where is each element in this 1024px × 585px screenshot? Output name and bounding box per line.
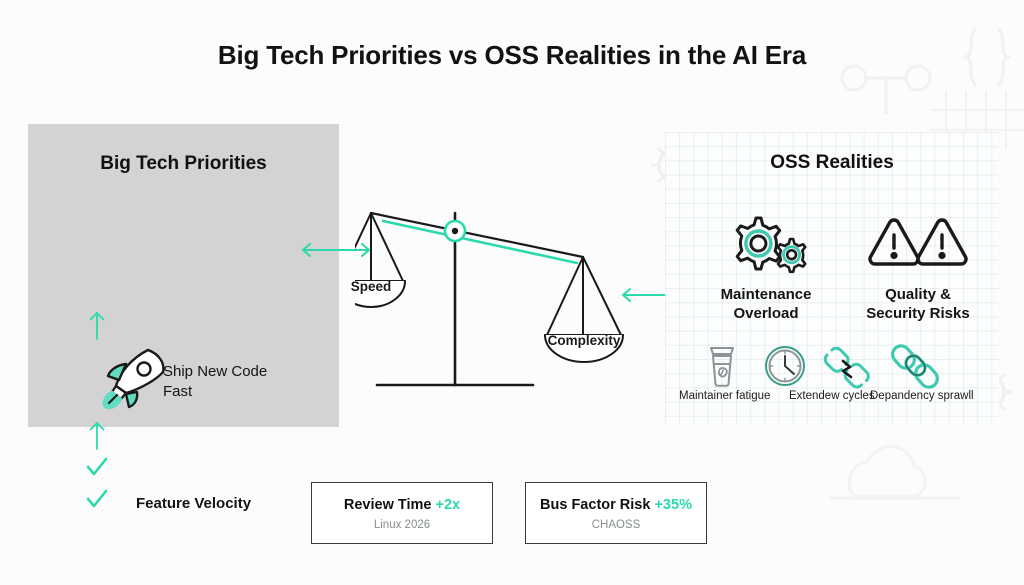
ship-new-code-label: Ship New Code Fast	[163, 362, 303, 402]
bus-factor-value: +35%	[654, 497, 692, 513]
bus-factor-title: Bus Factor Risk +35%	[526, 497, 706, 513]
up-arrow-icon	[88, 310, 106, 340]
cloud-watermark	[820, 430, 970, 510]
big-tech-priorities-panel: Big Tech Priorities	[28, 124, 339, 427]
oss-realities-panel: OSS Realities Mainte	[665, 132, 999, 424]
review-time-card[interactable]: Review Time +2x Linux 2026	[311, 482, 493, 544]
clock-icon	[763, 344, 807, 393]
mini-caption-dependency-sprawl: Depandency sprawll	[870, 390, 974, 402]
scale-right-pan-label: Complexity	[544, 333, 624, 348]
quality-security-risks-item: Quality & Security Risks	[848, 212, 988, 323]
broken-chain-icon	[823, 342, 871, 395]
maintenance-line1: Maintenance	[721, 286, 812, 303]
slide-canvas: Big Tech Priorities vs OSS Realities in …	[0, 0, 1024, 585]
maintenance-overload-label: Maintenance Overload	[691, 285, 841, 323]
quality-security-label: Quality & Security Risks	[848, 285, 988, 323]
warning-triangles-icon	[848, 212, 988, 279]
bus-factor-label: Bus Factor Risk	[540, 497, 650, 513]
up-arrow-icon	[88, 420, 106, 450]
node-graph-watermark	[840, 18, 980, 128]
balance-scale: Speed Complexity	[355, 195, 655, 395]
quality-line1: Quality &	[885, 286, 951, 303]
coffee-cup-icon	[703, 344, 741, 393]
feature-velocity-label: Feature Velocity	[136, 495, 251, 512]
chain-links-icon	[890, 340, 940, 395]
mini-caption-maintainer-fatigue: Maintainer fatigue	[679, 390, 770, 402]
bus-factor-source: CHAOSS	[526, 519, 706, 531]
scale-left-pan-label: Speed	[337, 279, 405, 294]
bus-factor-card[interactable]: Bus Factor Risk +35% CHAOSS	[525, 482, 707, 544]
ship-label-line2: Fast	[163, 383, 192, 400]
review-time-source: Linux 2026	[312, 519, 492, 531]
review-time-value: +2x	[436, 497, 461, 513]
maintenance-line2: Overload	[733, 305, 798, 322]
gears-icon	[691, 212, 841, 279]
mini-caption-extended-cycles: Extendew cycles	[789, 390, 875, 402]
quality-line2: Security Risks	[866, 305, 969, 322]
maintenance-overload-item: Maintenance Overload	[691, 212, 841, 323]
page-title: Big Tech Priorities vs OSS Realities in …	[0, 40, 1024, 71]
check-icon	[86, 456, 108, 478]
ship-label-line1: Ship New Code	[163, 363, 267, 380]
review-time-title: Review Time +2x	[312, 497, 492, 513]
check-icon	[86, 488, 108, 510]
left-panel-heading: Big Tech Priorities	[28, 153, 339, 175]
right-panel-heading: OSS Realities	[665, 152, 999, 174]
review-time-label: Review Time	[344, 497, 432, 513]
